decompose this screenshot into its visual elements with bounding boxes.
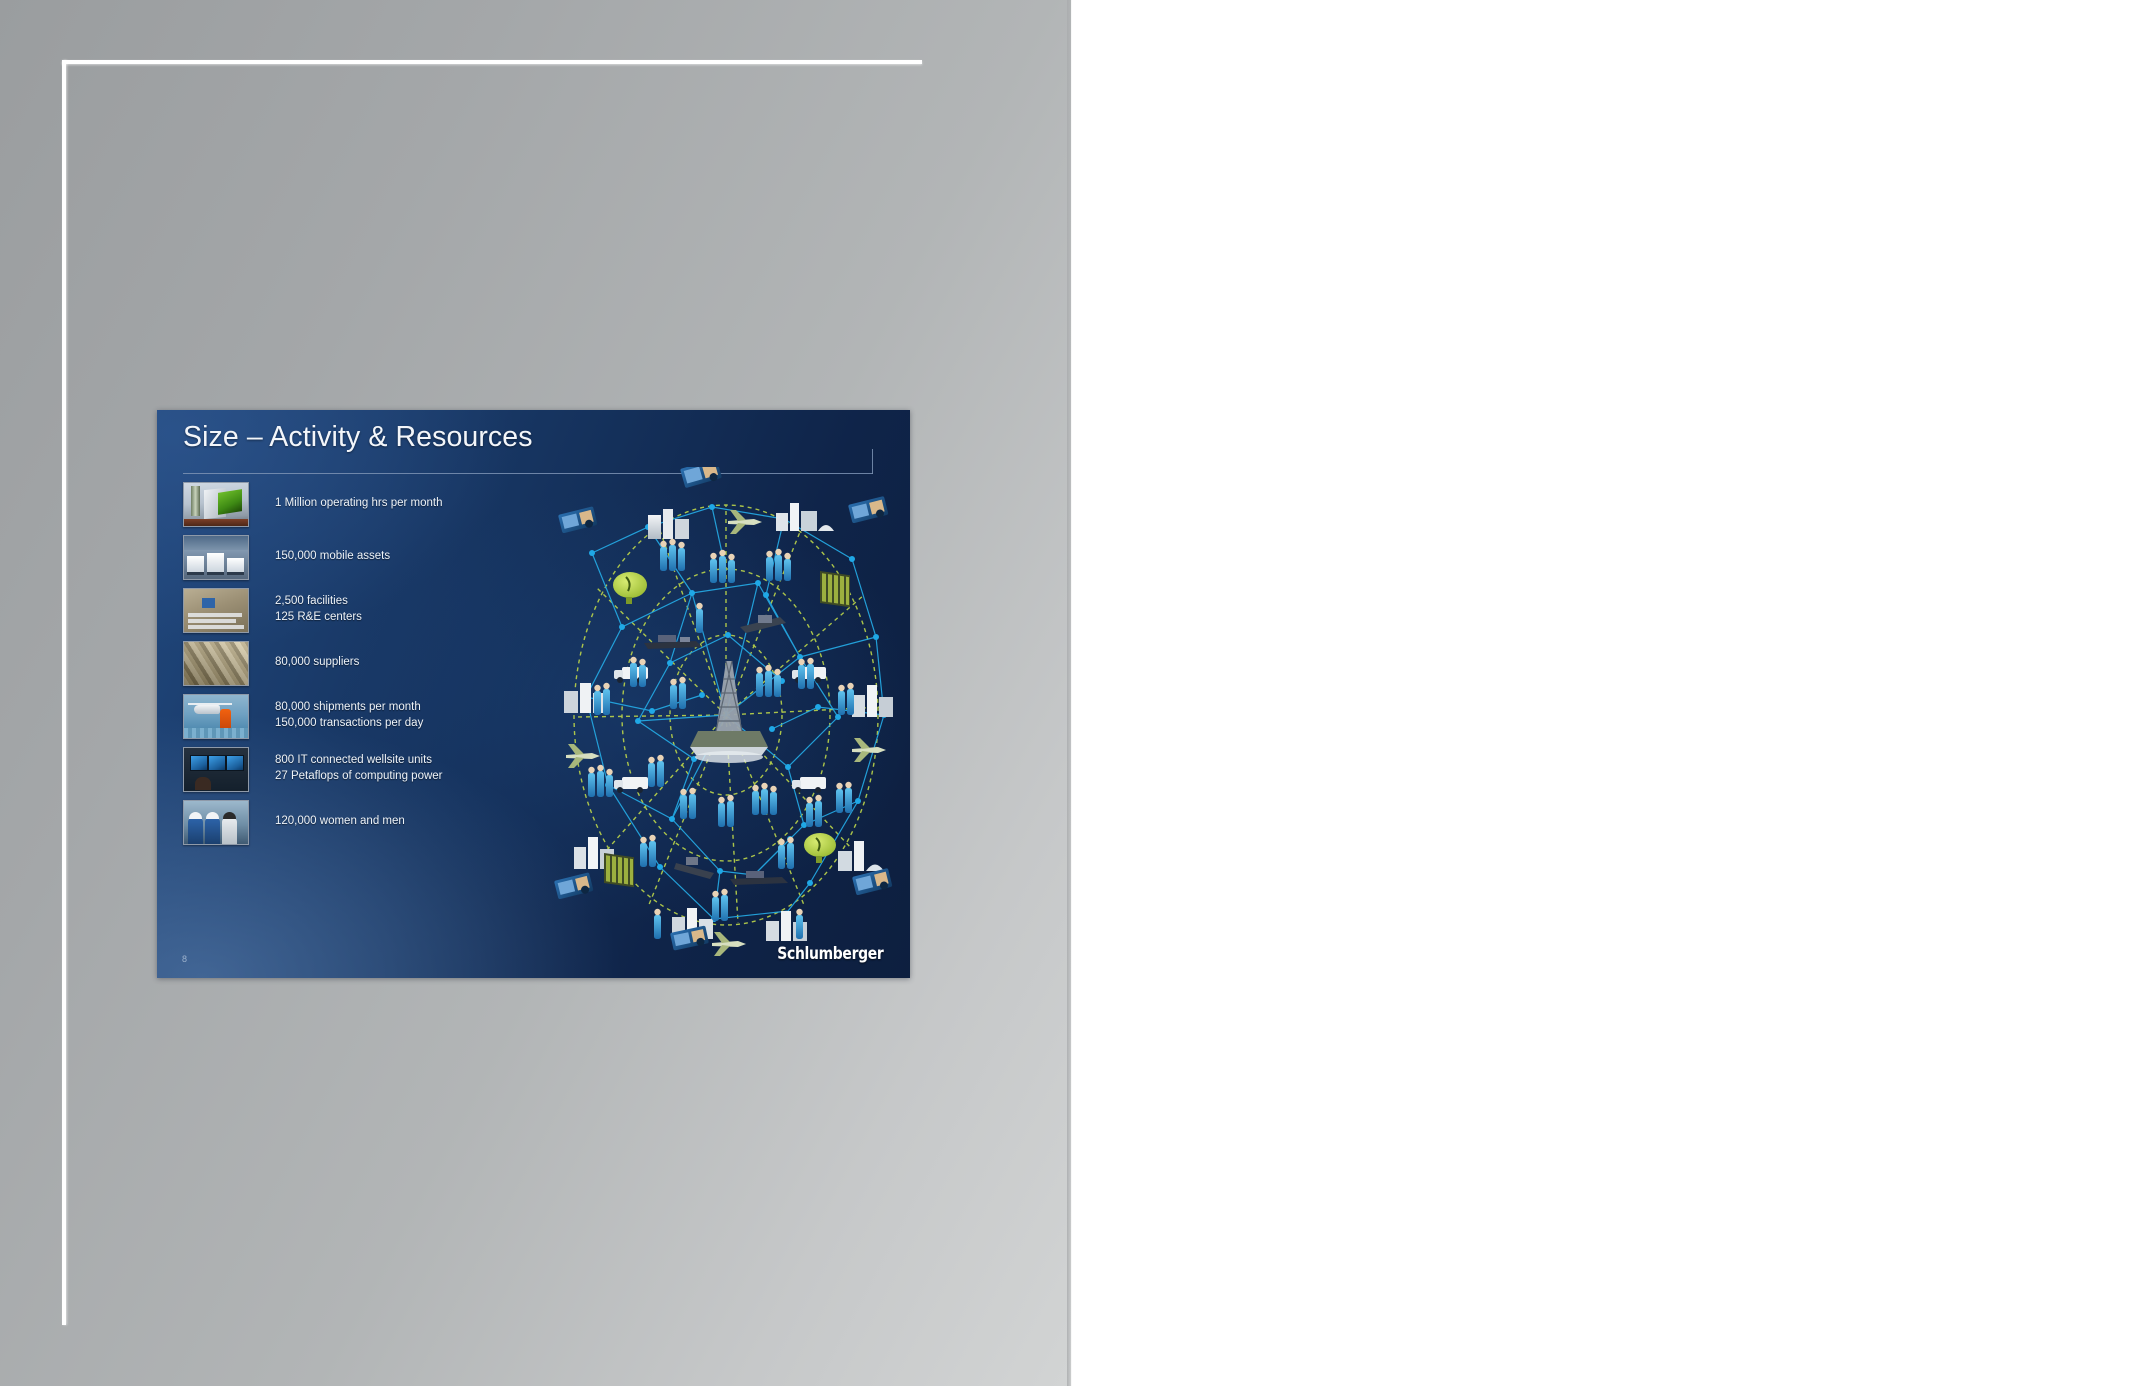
stat-line: 80,000 suppliers [275, 654, 359, 670]
stat-line: 800 IT connected wellsite units [275, 752, 443, 768]
list-item: 1 Million operating hrs per month [183, 482, 603, 527]
stat-text: 120,000 women and men [275, 800, 405, 829]
list-item: 2,500 facilities 125 R&E centers [183, 588, 603, 633]
presentation-slide: Size – Activity & Resources 1 Million op… [157, 410, 910, 978]
control-room-monitors-thumbnail [183, 747, 249, 792]
mobile-assets-trucks-thumbnail [183, 535, 249, 580]
list-item: 800 IT connected wellsite units 27 Petaf… [183, 747, 603, 792]
page-border-left-rule [62, 60, 66, 1325]
document-panel-edge [1067, 0, 1072, 1386]
stat-line: 125 R&E centers [275, 609, 362, 625]
stat-text: 80,000 suppliers [275, 641, 359, 670]
stat-line: 80,000 shipments per month [275, 699, 423, 715]
schlumberger-wordmark: Schlumberger [777, 944, 883, 964]
stat-line: 150,000 mobile assets [275, 548, 390, 564]
slide-title: Size – Activity & Resources [183, 421, 533, 454]
list-item: 150,000 mobile assets [183, 535, 603, 580]
document-page: Size – Activity & Resources 1 Million op… [0, 0, 2142, 1386]
list-item: 80,000 suppliers [183, 641, 603, 686]
stat-text: 2,500 facilities 125 R&E centers [275, 588, 362, 625]
offshore-helicopter-thumbnail [183, 694, 249, 739]
stat-text: 1 Million operating hrs per month [275, 482, 442, 511]
stat-text: 150,000 mobile assets [275, 535, 390, 564]
suppliers-pipes-thumbnail [183, 641, 249, 686]
stat-line: 150,000 transactions per day [275, 715, 423, 731]
stat-text: 80,000 shipments per month 150,000 trans… [275, 694, 423, 731]
stat-line: 2,500 facilities [275, 593, 362, 609]
workers-hardhats-thumbnail [183, 800, 249, 845]
stat-line: 120,000 women and men [275, 813, 405, 829]
slide-page-number: 8 [182, 954, 187, 964]
list-item: 120,000 women and men [183, 800, 603, 845]
page-border-top-rule [62, 60, 922, 64]
global-operations-network-diagram [552, 467, 900, 959]
list-item: 80,000 shipments per month 150,000 trans… [183, 694, 603, 739]
stat-line: 1 Million operating hrs per month [275, 495, 442, 511]
facilities-aerial-thumbnail [183, 588, 249, 633]
stat-line: 27 Petaflops of computing power [275, 768, 443, 784]
stat-text: 800 IT connected wellsite units 27 Petaf… [275, 747, 443, 784]
drilling-rig-thumbnail [183, 482, 249, 527]
